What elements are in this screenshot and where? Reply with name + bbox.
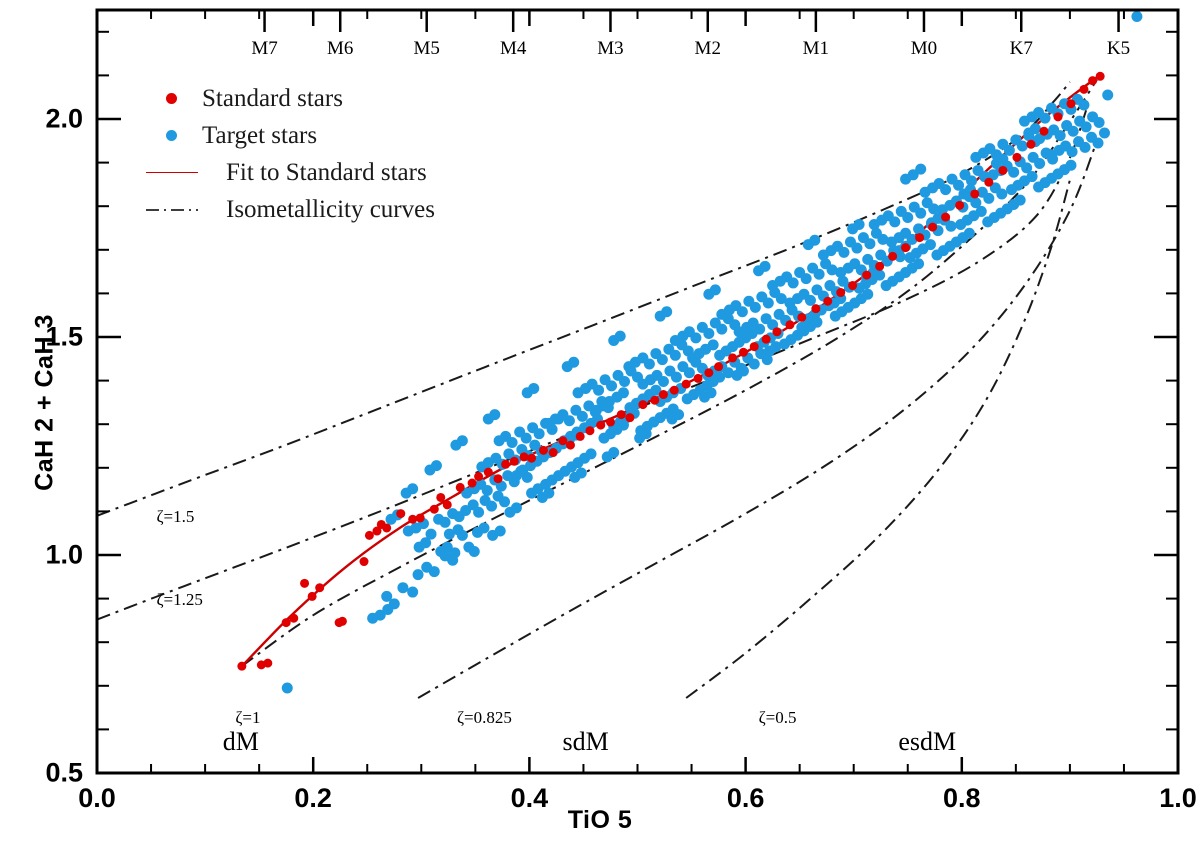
data-point bbox=[659, 390, 668, 399]
data-point bbox=[407, 483, 418, 494]
data-point bbox=[527, 454, 536, 463]
spectral-type-label: M7 bbox=[251, 38, 277, 60]
data-point bbox=[875, 262, 884, 271]
data-point bbox=[407, 587, 418, 598]
data-point bbox=[593, 385, 604, 396]
data-point bbox=[862, 271, 871, 280]
legend-marker-line bbox=[140, 172, 208, 173]
data-point bbox=[360, 557, 369, 566]
data-point bbox=[1034, 158, 1045, 169]
data-point bbox=[1030, 123, 1041, 134]
data-point bbox=[1066, 99, 1075, 108]
data-point bbox=[1017, 141, 1028, 152]
data-point bbox=[365, 531, 374, 540]
data-point bbox=[473, 507, 484, 518]
data-point bbox=[888, 252, 897, 261]
data-point bbox=[429, 566, 440, 577]
data-point bbox=[797, 313, 806, 322]
data-point bbox=[901, 243, 910, 252]
spectral-type-label: K5 bbox=[1107, 38, 1130, 60]
data-point bbox=[1094, 117, 1105, 128]
data-point bbox=[282, 682, 293, 693]
legend-marker-circle bbox=[140, 93, 202, 104]
data-point bbox=[902, 212, 913, 223]
class-annotation: dM bbox=[223, 727, 259, 757]
zeta-annotation: ζ=0.825 bbox=[457, 708, 512, 728]
data-point bbox=[519, 452, 528, 461]
data-point bbox=[706, 387, 717, 398]
spectral-type-label: M1 bbox=[803, 38, 829, 60]
legend-marker-dashdot bbox=[140, 207, 208, 213]
data-point bbox=[1088, 76, 1097, 85]
data-point bbox=[1096, 72, 1105, 81]
data-point bbox=[308, 592, 317, 601]
zeta-annotation: ζ=1.25 bbox=[156, 590, 202, 610]
data-point bbox=[754, 324, 765, 335]
data-point bbox=[510, 457, 519, 466]
data-point bbox=[670, 350, 681, 361]
data-point bbox=[534, 428, 545, 439]
data-point bbox=[889, 216, 900, 227]
legend-label: Standard stars bbox=[202, 85, 343, 113]
data-point bbox=[650, 396, 659, 405]
data-point bbox=[955, 201, 964, 210]
data-point bbox=[644, 359, 655, 370]
data-point bbox=[996, 188, 1007, 199]
zeta-annotation: ζ=0.5 bbox=[759, 708, 797, 728]
data-point bbox=[714, 362, 723, 371]
data-point bbox=[694, 374, 703, 383]
data-point bbox=[737, 306, 748, 317]
data-point bbox=[1080, 142, 1091, 153]
data-point bbox=[1131, 11, 1142, 22]
data-point bbox=[501, 460, 510, 469]
class-annotation: sdM bbox=[562, 727, 608, 757]
data-point bbox=[468, 479, 477, 488]
data-point bbox=[507, 437, 518, 448]
data-point bbox=[940, 184, 951, 195]
data-point bbox=[1067, 146, 1078, 157]
data-point bbox=[1008, 167, 1019, 178]
data-point bbox=[970, 189, 979, 198]
data-point bbox=[809, 235, 820, 246]
data-point bbox=[661, 306, 672, 317]
data-point bbox=[690, 332, 701, 343]
data-point bbox=[408, 515, 417, 524]
data-point bbox=[928, 223, 937, 232]
spectral-type-label: M3 bbox=[597, 38, 623, 60]
data-point bbox=[416, 513, 425, 522]
data-point bbox=[760, 261, 771, 272]
data-point bbox=[801, 273, 812, 284]
y-axis-title: CaH 2 + CaH 3 bbox=[31, 314, 59, 491]
data-point bbox=[710, 284, 721, 295]
data-point bbox=[1055, 130, 1066, 141]
data-point bbox=[494, 474, 503, 483]
data-point bbox=[315, 583, 324, 592]
data-point bbox=[945, 221, 956, 232]
data-point bbox=[984, 178, 993, 187]
legend-item: Fit to Standard stars bbox=[140, 154, 540, 191]
data-point bbox=[854, 219, 865, 230]
legend-dot-icon bbox=[166, 130, 177, 141]
data-point bbox=[638, 400, 647, 409]
data-point bbox=[658, 376, 669, 387]
data-point bbox=[684, 367, 695, 378]
data-point bbox=[528, 383, 539, 394]
spectral-type-label: M6 bbox=[327, 38, 353, 60]
data-point bbox=[521, 433, 532, 444]
data-point bbox=[606, 418, 615, 427]
zeta-annotation: ζ=1.5 bbox=[156, 507, 194, 527]
data-point bbox=[489, 409, 500, 420]
spectral-type-label: M4 bbox=[500, 38, 526, 60]
data-point bbox=[457, 435, 468, 446]
data-point bbox=[704, 368, 713, 377]
data-point bbox=[836, 288, 845, 297]
data-point bbox=[851, 243, 862, 254]
data-point bbox=[823, 297, 832, 306]
figure-canvas: 0.00.20.40.60.81.0 0.51.01.52.0 M7M6M5M4… bbox=[0, 0, 1200, 849]
y-axis-title-wrap: CaH 2 + CaH 3 bbox=[31, 53, 60, 753]
data-point bbox=[682, 380, 691, 389]
data-point bbox=[436, 493, 445, 502]
data-point bbox=[539, 446, 548, 455]
spectral-type-label: M0 bbox=[911, 38, 937, 60]
data-point bbox=[625, 413, 634, 422]
data-point bbox=[440, 517, 451, 528]
data-point bbox=[543, 488, 554, 499]
data-point bbox=[566, 441, 575, 450]
data-point bbox=[814, 269, 825, 280]
data-point bbox=[564, 415, 575, 426]
data-point bbox=[576, 468, 587, 479]
data-point bbox=[381, 591, 392, 602]
data-point bbox=[997, 154, 1008, 165]
legend-line-icon bbox=[146, 172, 198, 173]
data-point bbox=[925, 239, 936, 250]
data-point bbox=[1099, 127, 1110, 138]
data-point bbox=[716, 324, 727, 335]
data-point bbox=[763, 297, 774, 308]
legend-label: Target stars bbox=[202, 122, 317, 150]
data-point bbox=[998, 166, 1007, 175]
data-point bbox=[608, 447, 619, 458]
data-point bbox=[762, 335, 771, 344]
data-point bbox=[785, 320, 794, 329]
data-point bbox=[585, 426, 594, 435]
data-point bbox=[941, 213, 950, 222]
data-point bbox=[671, 372, 682, 383]
data-point bbox=[983, 193, 994, 204]
data-point bbox=[396, 509, 405, 518]
data-point bbox=[447, 555, 458, 566]
data-point bbox=[670, 386, 679, 395]
data-point bbox=[673, 409, 684, 420]
legend-marker-circle bbox=[140, 130, 202, 141]
legend-dashdot-icon bbox=[146, 207, 198, 213]
data-point bbox=[739, 348, 748, 357]
data-point bbox=[864, 238, 875, 249]
data-point bbox=[964, 228, 975, 239]
data-point bbox=[657, 354, 668, 365]
data-point bbox=[397, 582, 408, 593]
data-point bbox=[596, 421, 605, 430]
data-point bbox=[772, 327, 781, 336]
data-point bbox=[738, 366, 749, 377]
data-point bbox=[1093, 137, 1104, 148]
data-point bbox=[568, 357, 579, 368]
legend-label: Isometallicity curves bbox=[208, 196, 435, 224]
data-point bbox=[474, 472, 483, 481]
data-point bbox=[430, 505, 439, 514]
data-point bbox=[1012, 153, 1021, 162]
data-point bbox=[1054, 112, 1063, 121]
zeta-annotation: ζ=1 bbox=[235, 708, 260, 728]
data-point bbox=[788, 277, 799, 288]
data-point bbox=[382, 523, 391, 532]
data-point bbox=[1040, 113, 1051, 124]
data-point bbox=[811, 304, 820, 313]
data-point bbox=[770, 341, 781, 352]
data-point bbox=[1015, 195, 1026, 206]
data-point bbox=[1102, 90, 1113, 101]
class-annotation: esdM bbox=[898, 727, 956, 757]
data-point bbox=[420, 537, 431, 548]
data-point bbox=[708, 339, 719, 350]
data-point bbox=[750, 342, 759, 351]
data-point bbox=[728, 353, 737, 362]
data-point bbox=[618, 387, 629, 398]
data-point bbox=[1081, 121, 1092, 132]
data-point bbox=[641, 428, 652, 439]
data-point bbox=[1065, 160, 1076, 171]
data-point bbox=[282, 618, 291, 627]
data-point bbox=[617, 410, 626, 419]
data-point bbox=[338, 617, 347, 626]
data-point bbox=[431, 460, 442, 471]
data-point bbox=[413, 569, 424, 580]
legend-item: Isometallicity curves bbox=[140, 191, 540, 228]
data-point bbox=[549, 448, 558, 457]
data-point bbox=[1026, 140, 1035, 149]
data-point bbox=[558, 436, 567, 445]
data-point bbox=[495, 526, 506, 537]
data-point bbox=[1027, 171, 1038, 182]
data-point bbox=[300, 579, 309, 588]
data-point bbox=[486, 501, 497, 512]
legend: Standard starsTarget starsFit to Standar… bbox=[140, 80, 540, 228]
data-point bbox=[456, 483, 465, 492]
data-point bbox=[1039, 127, 1048, 136]
data-point bbox=[750, 302, 761, 313]
data-point bbox=[1004, 145, 1015, 156]
data-point bbox=[915, 233, 924, 242]
data-point bbox=[915, 164, 926, 175]
data-point bbox=[453, 524, 464, 535]
legend-dot-icon bbox=[166, 93, 177, 104]
data-point bbox=[237, 662, 246, 671]
data-point bbox=[749, 359, 760, 370]
x-axis-title: TiO 5 bbox=[0, 806, 1200, 835]
data-point bbox=[478, 522, 489, 533]
spectral-type-label: M2 bbox=[695, 38, 721, 60]
legend-item: Target stars bbox=[140, 117, 540, 154]
data-point bbox=[915, 208, 926, 219]
data-point bbox=[805, 295, 816, 306]
data-point bbox=[511, 502, 522, 513]
data-point bbox=[482, 485, 493, 496]
data-point bbox=[1079, 85, 1088, 94]
data-point bbox=[838, 247, 849, 258]
data-point bbox=[577, 411, 588, 422]
data-point bbox=[499, 496, 510, 507]
data-point bbox=[443, 500, 452, 509]
data-point bbox=[848, 281, 857, 290]
data-point bbox=[1068, 126, 1079, 137]
data-point bbox=[469, 546, 480, 557]
data-point bbox=[1078, 100, 1089, 111]
legend-label: Fit to Standard stars bbox=[208, 159, 427, 187]
y-tick-label: 0.5 bbox=[45, 758, 83, 789]
spectral-type-label: M5 bbox=[414, 38, 440, 60]
data-point bbox=[703, 328, 714, 339]
data-point bbox=[263, 659, 272, 668]
spectral-type-label: K7 bbox=[1010, 38, 1033, 60]
data-point bbox=[484, 468, 493, 477]
data-point bbox=[606, 380, 617, 391]
data-point bbox=[576, 432, 585, 441]
data-point bbox=[289, 614, 298, 623]
data-point bbox=[619, 376, 630, 387]
data-point bbox=[615, 331, 626, 342]
legend-item: Standard stars bbox=[140, 80, 540, 117]
data-point bbox=[586, 448, 597, 459]
data-point bbox=[976, 206, 987, 217]
